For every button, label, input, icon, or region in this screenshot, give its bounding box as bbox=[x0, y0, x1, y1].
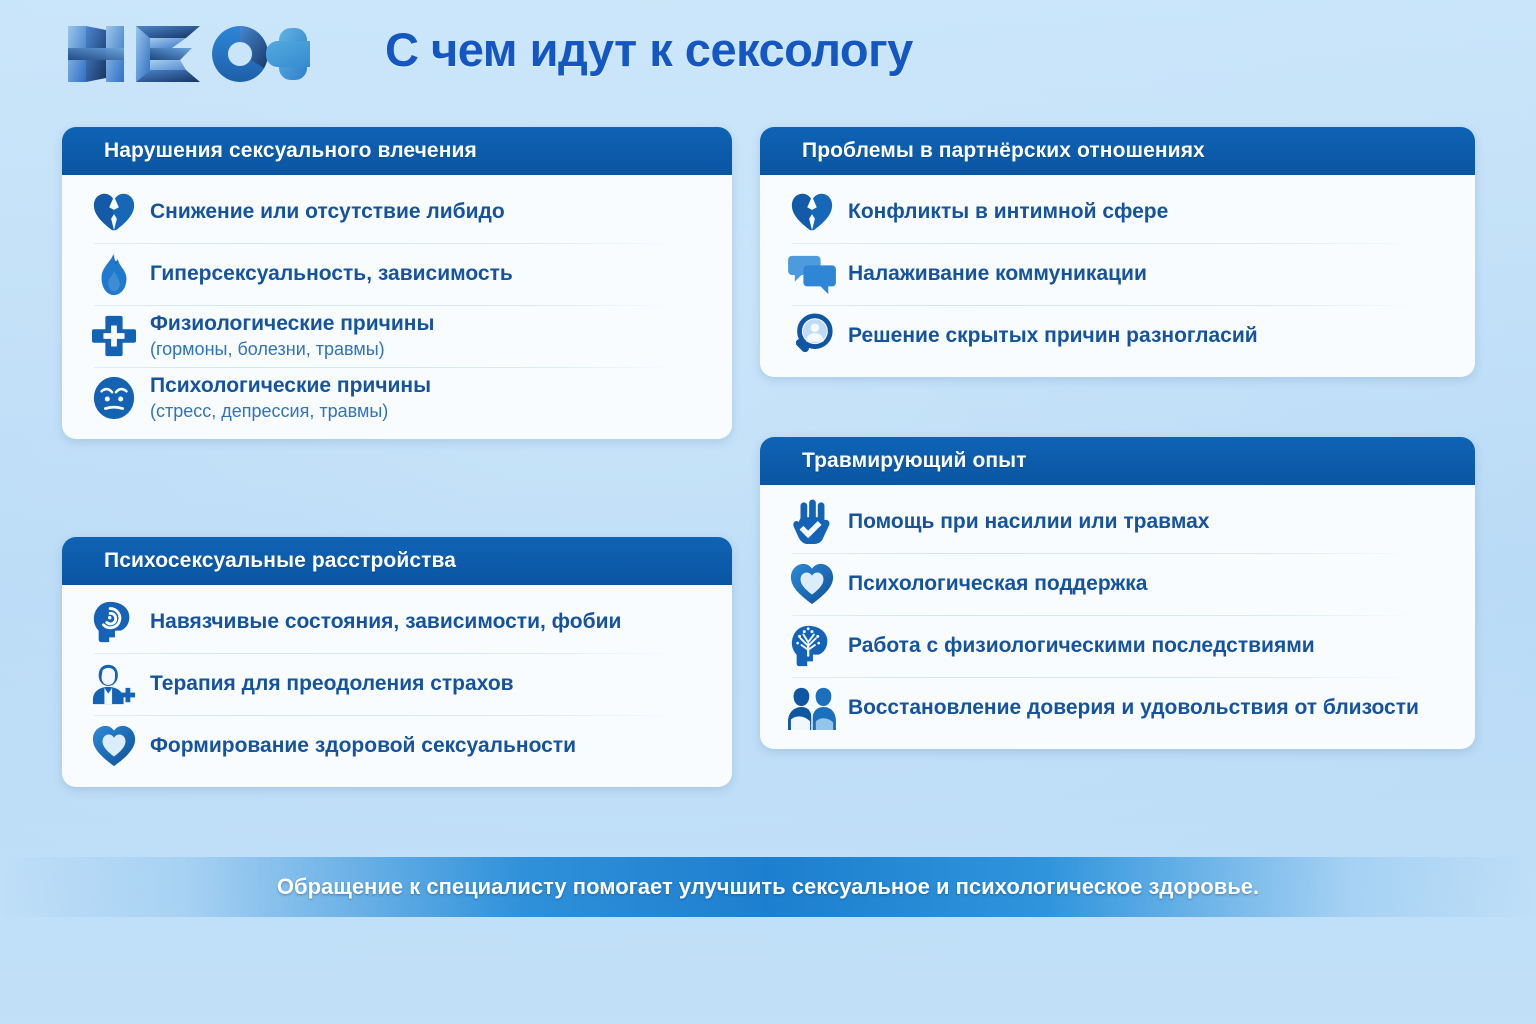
card-body: Снижение или отсутствие либидо Гиперсекс… bbox=[62, 175, 732, 439]
list-item[interactable]: Снижение или отсутствие либидо bbox=[88, 181, 706, 243]
card-psychosexual-disorders: Психосексуальные расстройства Навязчивые… bbox=[62, 537, 732, 787]
list-item-label: Конфликты в интимной сфере bbox=[848, 200, 1168, 224]
list-item-sublabel: (стресс, депрессия, травмы) bbox=[150, 401, 431, 423]
list-item[interactable]: Физиологические причины (гормоны, болезн… bbox=[88, 305, 706, 367]
list-item-label: Восстановление доверия и удовольствия от… bbox=[848, 696, 1419, 720]
list-item-label: Налаживание коммуникации bbox=[848, 262, 1147, 286]
card-body: Конфликты в интимной сфере Налаживание к… bbox=[760, 175, 1475, 377]
list-item-label: Работа с физиологическими последствиями bbox=[848, 634, 1315, 658]
flame-icon bbox=[88, 248, 140, 300]
list-item-label: Снижение или отсутствие либидо bbox=[150, 200, 505, 224]
list-item[interactable]: Решение скрытых причин разногласий bbox=[786, 305, 1449, 367]
list-item-label: Терапия для преодоления страхов bbox=[150, 672, 514, 696]
page-title: С чем идут к сексологу bbox=[385, 22, 913, 77]
broken-heart-icon bbox=[786, 186, 838, 238]
couple-embrace-icon bbox=[786, 682, 838, 734]
card-title: Проблемы в партнёрских отношениях bbox=[802, 139, 1205, 163]
list-item-label: Гиперсексуальность, зависимость bbox=[150, 262, 513, 286]
magnifier-person-icon bbox=[786, 310, 838, 362]
list-item[interactable]: Гиперсексуальность, зависимость bbox=[88, 243, 706, 305]
footer-message: Обращение к специалисту помогает улучшит… bbox=[0, 857, 1536, 917]
list-item[interactable]: Восстановление доверия и удовольствия от… bbox=[786, 677, 1449, 739]
chat-bubbles-icon bbox=[786, 248, 838, 300]
hand-check-icon bbox=[786, 496, 838, 548]
list-item-label: Физиологические причины bbox=[150, 312, 434, 336]
list-item[interactable]: Психологическая поддержка bbox=[786, 553, 1449, 615]
list-item[interactable]: Навязчивые состояния, зависимости, фобии bbox=[88, 591, 706, 653]
card-body: Помощь при насилии или травмах Психологи… bbox=[760, 485, 1475, 749]
heart-inner-icon bbox=[88, 720, 140, 772]
neo-plus-logo-icon bbox=[60, 18, 310, 90]
head-spiral-icon bbox=[88, 596, 140, 648]
list-item[interactable]: Помощь при насилии или травмах bbox=[786, 491, 1449, 553]
card-title: Нарушения сексуального влечения bbox=[104, 139, 477, 163]
card-header: Нарушения сексуального влечения bbox=[62, 127, 732, 175]
list-item[interactable]: Конфликты в интимной сфере bbox=[786, 181, 1449, 243]
card-sexual-desire-disorders: Нарушения сексуального влечения Снижение… bbox=[62, 127, 732, 439]
person-plus-icon bbox=[88, 658, 140, 710]
card-traumatic-experience: Травмирующий опыт Помощь при насилии или… bbox=[760, 437, 1475, 749]
medical-cross-icon bbox=[88, 310, 140, 362]
heart-inner-icon bbox=[786, 558, 838, 610]
list-item[interactable]: Налаживание коммуникации bbox=[786, 243, 1449, 305]
list-item[interactable]: Работа с физиологическими последствиями bbox=[786, 615, 1449, 677]
list-item-label: Психологическая поддержка bbox=[848, 572, 1147, 596]
list-item[interactable]: Психологические причины (стресс, депресс… bbox=[88, 367, 706, 429]
card-title: Психосексуальные расстройства bbox=[104, 549, 456, 573]
page-header: С чем идут к сексологу bbox=[0, 0, 1536, 110]
list-item-label: Формирование здоровой сексуальности bbox=[150, 734, 576, 758]
head-tree-icon bbox=[786, 620, 838, 672]
list-item-label: Помощь при насилии или травмах bbox=[848, 510, 1209, 534]
card-header: Проблемы в партнёрских отношениях bbox=[760, 127, 1475, 175]
card-header: Травмирующий опыт bbox=[760, 437, 1475, 485]
card-header: Психосексуальные расстройства bbox=[62, 537, 732, 585]
card-title: Травмирующий опыт bbox=[802, 449, 1027, 473]
card-body: Навязчивые состояния, зависимости, фобии… bbox=[62, 585, 732, 787]
list-item[interactable]: Терапия для преодоления страхов bbox=[88, 653, 706, 715]
sad-face-icon bbox=[88, 372, 140, 424]
list-item-label: Решение скрытых причин разногласий bbox=[848, 324, 1258, 348]
broken-heart-icon bbox=[88, 186, 140, 238]
brand-logo bbox=[60, 18, 310, 90]
list-item[interactable]: Формирование здоровой сексуальности bbox=[88, 715, 706, 777]
card-partner-relationship-problems: Проблемы в партнёрских отношениях Конфли… bbox=[760, 127, 1475, 377]
list-item-sublabel: (гормоны, болезни, травмы) bbox=[150, 339, 434, 361]
list-item-label: Навязчивые состояния, зависимости, фобии bbox=[150, 610, 621, 634]
list-item-label: Психологические причины bbox=[150, 374, 431, 398]
